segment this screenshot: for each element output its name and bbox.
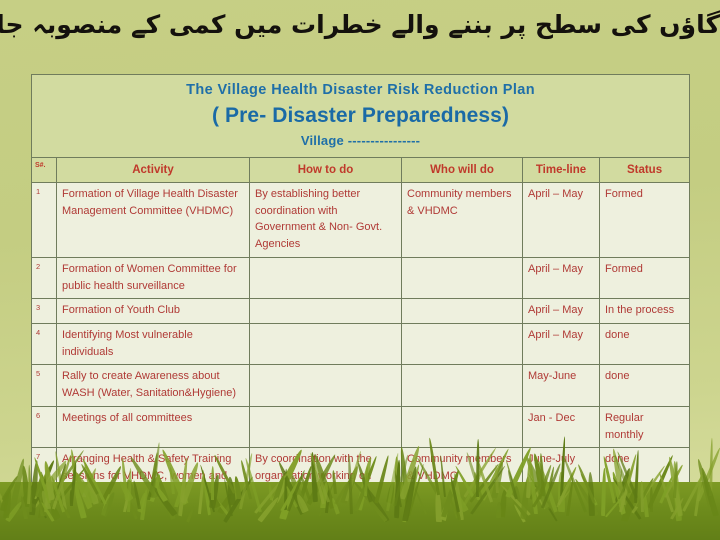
- cell-activity: Formation of Youth Club: [57, 299, 250, 324]
- cell-who: ----------------: [402, 506, 523, 531]
- grass-blade: [6, 500, 25, 522]
- slide-canvas: گاؤں کی سطح پر بننے والے خطرات میں کمی ک…: [0, 0, 720, 540]
- cell-time: April – May: [523, 182, 600, 257]
- cell-time: April – May: [523, 323, 600, 364]
- cell-how: By establishing better coordination with…: [250, 182, 402, 257]
- cell-time: ----------------: [523, 506, 600, 531]
- cell-activity: Formation of Women Committee for public …: [57, 257, 250, 298]
- grass-blade: [709, 438, 713, 496]
- cell-how: [250, 323, 402, 364]
- plan-village-field: Village ----------------: [36, 131, 685, 151]
- row-serial-number: 7: [32, 448, 57, 506]
- column-header-serial: S#.: [32, 157, 57, 182]
- cell-who: Community members & VHDMC: [402, 182, 523, 257]
- cell-status: Formed: [600, 257, 690, 298]
- cell-status: done: [600, 365, 690, 406]
- cell-who: [402, 299, 523, 324]
- table-header-row: S#. Activity How to do Who will do Time-…: [32, 157, 690, 182]
- urdu-slide-title: گاؤں کی سطح پر بننے والے خطرات میں کمی ک…: [0, 8, 720, 42]
- grass-blade: [3, 488, 12, 517]
- cell-activity: Arranging Health & Safety Training sessi…: [57, 448, 250, 506]
- grass-blade: [696, 458, 713, 507]
- plan-title-line-1: The Village Health Disaster Risk Reducti…: [36, 80, 685, 101]
- table-row: 6Meetings of all committeesJan - DecRegu…: [32, 406, 690, 447]
- cell-status: done: [600, 323, 690, 364]
- row-serial-number: 8: [32, 506, 57, 531]
- table-row: 4Identifying Most vulnerable individuals…: [32, 323, 690, 364]
- cell-status: Regular monthly: [600, 406, 690, 447]
- cell-time: Jan - Dec: [523, 406, 600, 447]
- grass-blade: [20, 465, 31, 507]
- cell-status: Formed: [600, 182, 690, 257]
- cell-who: [402, 257, 523, 298]
- cell-how: [250, 406, 402, 447]
- row-serial-number: 6: [32, 406, 57, 447]
- row-serial-number: 5: [32, 365, 57, 406]
- table-row: 7Arranging Health & Safety Training sess…: [32, 448, 690, 506]
- table-row: 2Formation of Women Committee for public…: [32, 257, 690, 298]
- column-header-who-will-do: Who will do: [402, 157, 523, 182]
- column-header-status: Status: [600, 157, 690, 182]
- cell-how: [250, 299, 402, 324]
- row-serial-number: 3: [32, 299, 57, 324]
- grass-blade: [699, 467, 718, 516]
- cell-status: done: [600, 448, 690, 506]
- cell-how: By coordination with the organization wo…: [250, 448, 402, 506]
- row-serial-number: 2: [32, 257, 57, 298]
- grass-blade: [0, 492, 11, 511]
- column-header-time-line: Time-line: [523, 157, 600, 182]
- cell-time: June-July: [523, 448, 600, 506]
- grass-blade: [694, 469, 704, 516]
- table-body: 1Formation of Village Health Disaster Ma…: [32, 182, 690, 530]
- grass-blade: [1, 475, 18, 501]
- row-serial-number: 4: [32, 323, 57, 364]
- grass-blade: [0, 461, 4, 501]
- cell-how: [250, 365, 402, 406]
- cell-activity: Formation of Village Health Disaster Man…: [57, 182, 250, 257]
- row-serial-number: 1: [32, 182, 57, 257]
- table-title-band: The Village Health Disaster Risk Reducti…: [32, 75, 690, 158]
- column-header-activity: Activity: [57, 157, 250, 182]
- cell-who: [402, 323, 523, 364]
- cell-how: [250, 257, 402, 298]
- table-row: 1Formation of Village Health Disaster Ma…: [32, 182, 690, 257]
- table-row: 3Formation of Youth ClubApril – MayIn th…: [32, 299, 690, 324]
- cell-who: [402, 365, 523, 406]
- cell-activity: Identifying Most vulnerable individuals: [57, 323, 250, 364]
- cell-time: April – May: [523, 299, 600, 324]
- cell-time: April – May: [523, 257, 600, 298]
- table-row: 5Rally to create Awareness about WASH (W…: [32, 365, 690, 406]
- grass-blade: [696, 447, 720, 501]
- grass-blade: [0, 481, 4, 503]
- table-title-row: The Village Health Disaster Risk Reducti…: [32, 75, 690, 158]
- cell-how: -----------------: [250, 506, 402, 531]
- grass-blade: [9, 458, 26, 511]
- village-health-plan-table: The Village Health Disaster Risk Reducti…: [31, 74, 690, 531]
- cell-activity: Meetings of all committees: [57, 406, 250, 447]
- cell-status: --------------: [600, 506, 690, 531]
- cell-who: [402, 406, 523, 447]
- grass-blade: [20, 496, 28, 519]
- cell-time: May-June: [523, 365, 600, 406]
- cell-activity: ---------------------: [57, 506, 250, 531]
- cell-who: Community members & VHDMC: [402, 448, 523, 506]
- cell-activity: Rally to create Awareness about WASH (Wa…: [57, 365, 250, 406]
- cell-status: In the process: [600, 299, 690, 324]
- table-row: 8---------------------------------------…: [32, 506, 690, 531]
- column-header-how-to-do: How to do: [250, 157, 402, 182]
- plan-title-line-2: ( Pre- Disaster Preparedness): [36, 101, 685, 131]
